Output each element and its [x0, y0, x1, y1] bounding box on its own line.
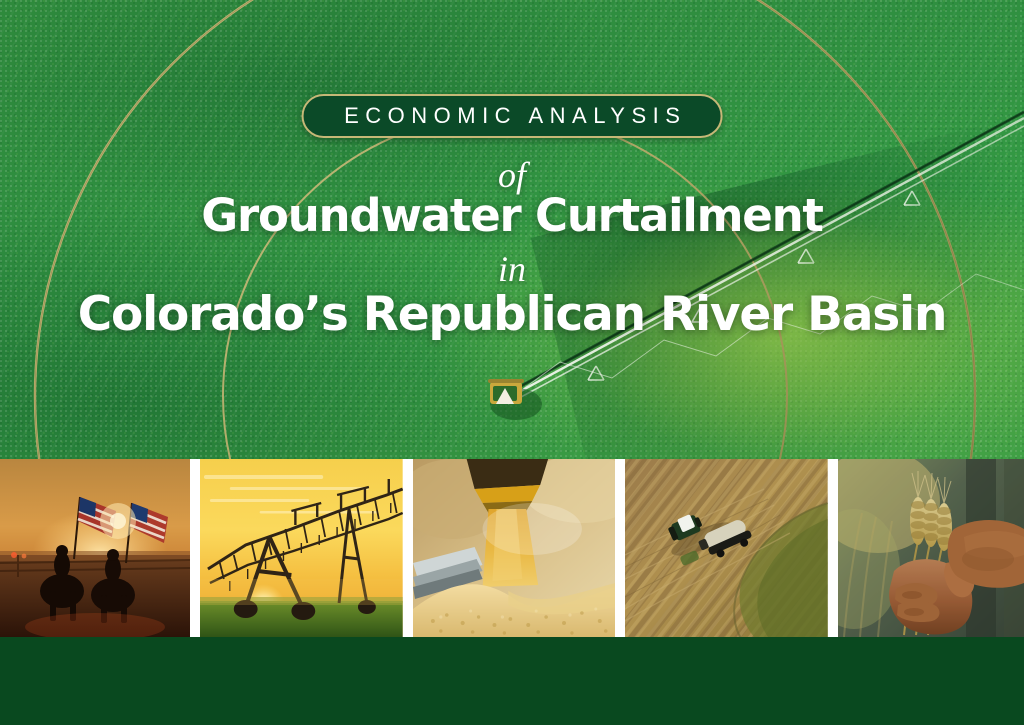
boom-shadow: [510, 112, 1024, 392]
photo-strip: [0, 459, 1024, 637]
photo-aerial-tractor-field: [625, 459, 828, 637]
eyebrow-badge[interactable]: ECONOMIC ANALYSIS: [302, 94, 723, 138]
pivot-overlay-graphics: [0, 0, 1024, 459]
eyebrow-label: ECONOMIC ANALYSIS: [338, 103, 687, 129]
photo-rodeo-riders-flags: [0, 459, 190, 637]
photo-grain-pouring: [413, 459, 616, 637]
irrigation-boom-truss: [508, 118, 1024, 404]
hero-aerial-field-image: ECONOMIC ANALYSIS of Groundwater Curtail…: [0, 0, 1024, 459]
photo-center-pivot-sunset: [200, 459, 403, 637]
cover-page: ECONOMIC ANALYSIS of Groundwater Curtail…: [0, 0, 1024, 725]
bottom-green-bar: [0, 637, 1024, 725]
photo-hands-wheat: [838, 459, 1024, 637]
